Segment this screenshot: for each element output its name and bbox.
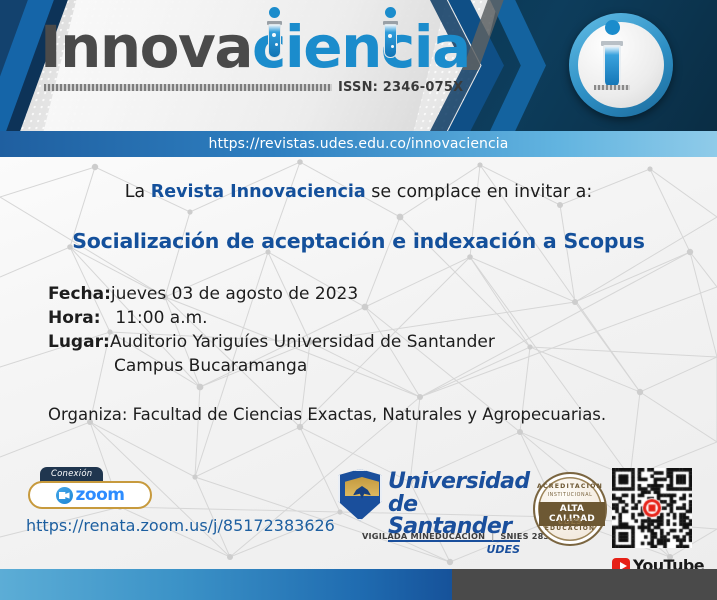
poster-body: La Revista Innovaciencia se complace en …	[0, 157, 717, 569]
invitation-poster: Innovaciencia ISSN: 2346-075X https://re…	[0, 0, 717, 600]
organizer-line: Organiza: Facultad de Ciencias Exactas, …	[48, 405, 606, 424]
detail-value-lugar: Auditorio Yariguíes Universidad de Santa…	[110, 332, 495, 352]
seal-bottom-text: MIN EDUCACIÓN	[535, 518, 605, 532]
detail-value-campus: Campus Bucaramanga	[48, 354, 495, 378]
event-details: Fecha:jueves 03 de agosto de 2023 Hora: …	[48, 282, 495, 379]
test-tube-icon-i2	[384, 14, 397, 60]
event-title: Socialización de aceptación e indexación…	[0, 229, 717, 253]
detail-row-fecha: Fecha:jueves 03 de agosto de 2023	[48, 282, 495, 306]
udes-vigilada-text: VIGILADA MINEDUCACIÓN	[362, 531, 485, 541]
journal-badge-icon	[569, 13, 673, 117]
issn-label: ISSN: 2346-075X	[338, 80, 463, 95]
journal-url-bar[interactable]: https://revistas.udes.edu.co/innovacienc…	[0, 131, 717, 157]
logo-ciencia-text: ciencia	[252, 13, 470, 81]
logo-underline-rule	[44, 84, 332, 91]
detail-label-hora: Hora:	[48, 306, 110, 330]
logo-innova-text: Innova	[40, 13, 252, 81]
poster-header: Innovaciencia ISSN: 2346-075X	[0, 0, 717, 131]
journal-logo: Innovaciencia	[40, 18, 470, 76]
udes-legal-separator: |	[485, 531, 500, 541]
udes-wordmark: Universidad de Santander UDES	[388, 471, 530, 556]
footer-blue-bar	[0, 569, 452, 600]
intro-journal-name: Revista Innovaciencia	[151, 182, 366, 202]
footer-gray-bar	[452, 569, 717, 600]
detail-label-lugar: Lugar:	[48, 330, 110, 354]
poster-footer	[0, 569, 717, 600]
invitation-intro-line: La Revista Innovaciencia se complace en …	[0, 182, 717, 202]
detail-label-fecha: Fecha:	[48, 282, 111, 306]
detail-value-hora: 11:00 a.m.	[110, 308, 208, 328]
test-tube-icon-i	[268, 14, 281, 60]
accreditation-seal: ACREDITACIÓN INSTITUCIONAL ALTA CALIDAD …	[533, 472, 607, 546]
zoom-conexion-tab: Conexión	[40, 467, 103, 482]
intro-suffix: se complace en invitar a:	[366, 182, 593, 202]
detail-value-fecha: jueves 03 de agosto de 2023	[111, 284, 358, 304]
intro-prefix: La	[125, 182, 151, 202]
zoom-logo: zoom	[28, 481, 152, 509]
seal-top-text: ACREDITACIÓN	[535, 483, 605, 490]
zoom-brand-text: zoom	[76, 485, 125, 505]
udes-line-1: Universidad	[388, 471, 530, 493]
zoom-meeting-link[interactable]: https://renata.zoom.us/j/85172383626	[26, 516, 335, 535]
zoom-camera-icon	[56, 487, 73, 504]
qr-code-icon[interactable]	[612, 468, 692, 548]
detail-row-hora: Hora: 11:00 a.m.	[48, 306, 495, 330]
udes-legal-line: VIGILADA MINEDUCACIÓN|SNIES 2832	[362, 531, 555, 541]
journal-url-text: https://revistas.udes.edu.co/innovacienc…	[209, 136, 509, 152]
seal-sub-text: INSTITUCIONAL	[535, 493, 605, 498]
detail-row-lugar: Lugar:Auditorio Yariguíes Universidad de…	[48, 330, 495, 378]
udes-acronym: UDES	[388, 543, 520, 556]
